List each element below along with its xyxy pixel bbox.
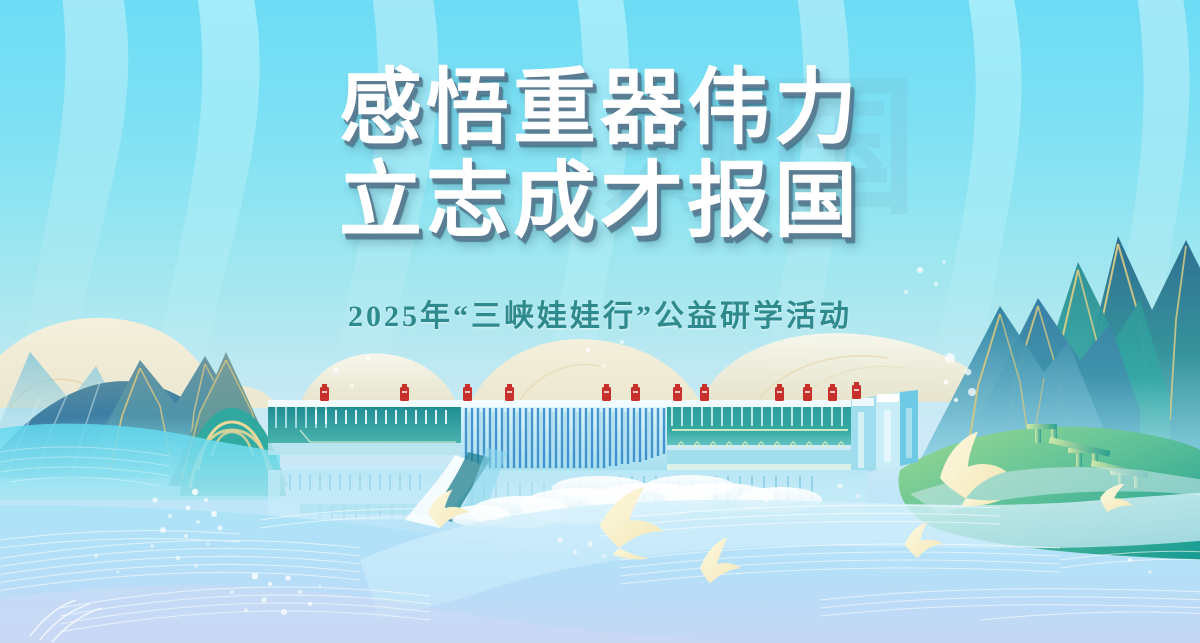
dam-spillway[interactable]	[461, 407, 667, 471]
banner-title: 感悟重器伟力 立志成才报国	[0, 66, 1200, 242]
title-line-2: 立志成才报国	[0, 159, 1200, 242]
dam-left-powerhouse[interactable]	[268, 407, 462, 455]
title-line-1: 感悟重器伟力	[0, 66, 1200, 149]
dam-flag-posts	[320, 382, 861, 401]
dam-ship-lock[interactable]	[851, 390, 918, 476]
banner-subtitle: 2025年“三峡娃娃行”公益研学活动	[0, 291, 1200, 335]
dam-right-powerhouse[interactable]	[667, 407, 851, 470]
dam-crest-road	[268, 400, 916, 407]
banner-canvas: 力国	[0, 0, 1200, 643]
